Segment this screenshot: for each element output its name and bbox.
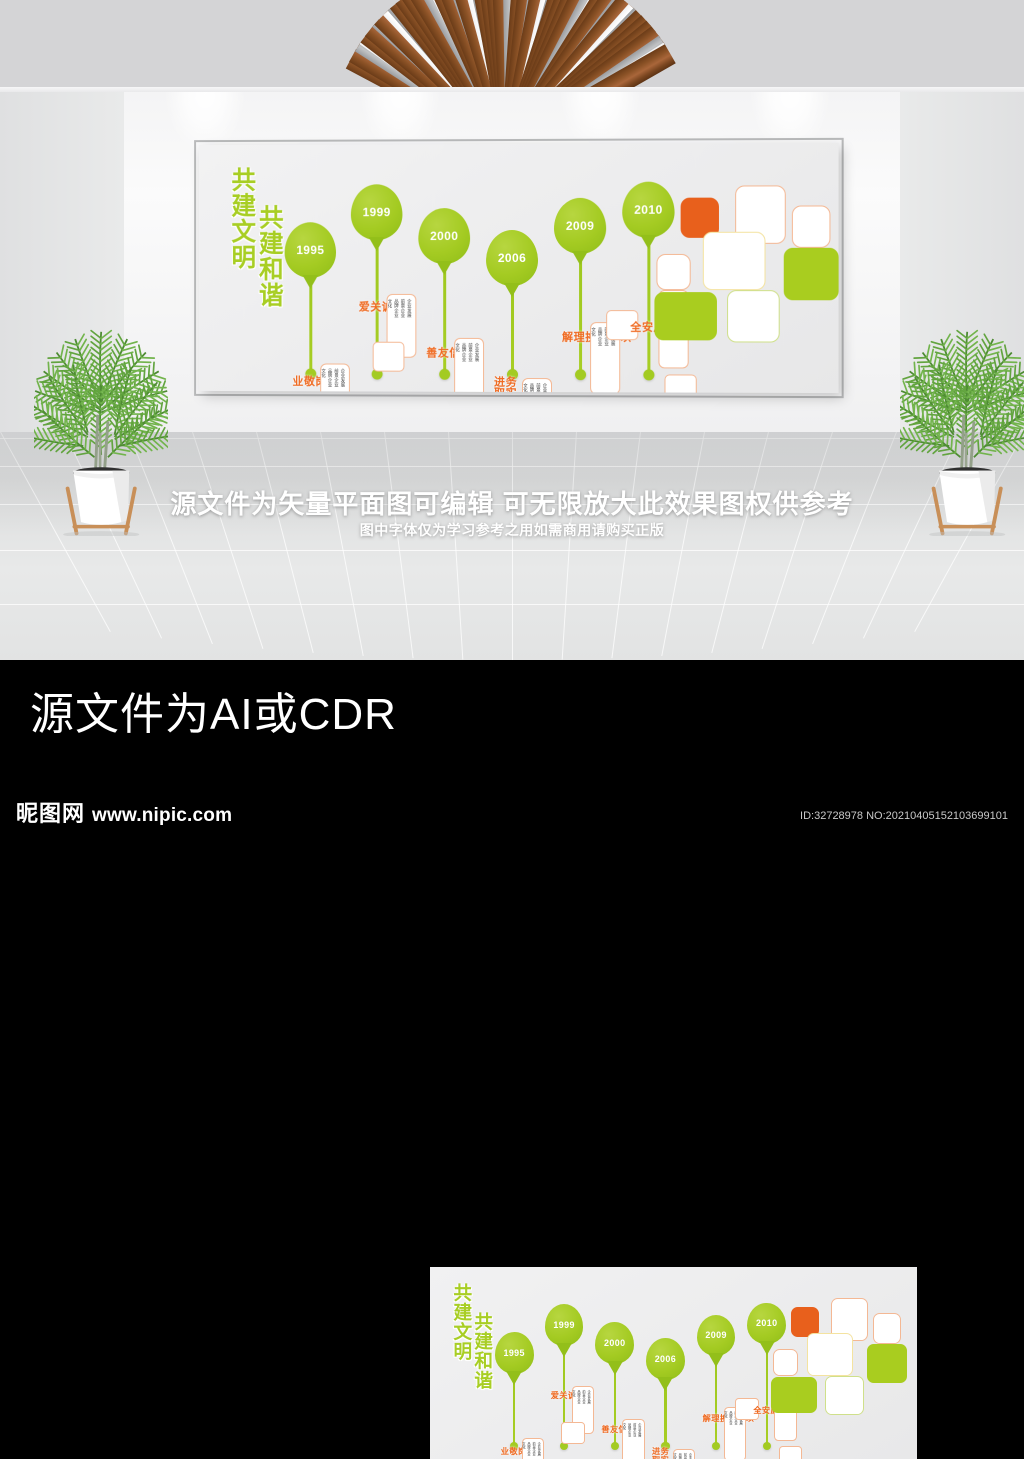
- timeline-year-balloon[interactable]: 2009: [697, 1315, 736, 1357]
- timeline-text-column: 企业发展: [542, 383, 548, 393]
- decor-square-green-right: [784, 248, 839, 300]
- timeline-blank-frame: [561, 1422, 585, 1444]
- timeline-text-column: 企业发展: [475, 343, 480, 393]
- headline-left: 共建文明: [452, 1283, 471, 1361]
- timeline-year-balloon[interactable]: 2009: [554, 198, 606, 254]
- timeline-text-box: 企业发展前景企业品牌企业文化: [622, 1419, 644, 1459]
- brand-name-cn: 昵图网: [16, 796, 85, 828]
- caption-primary: 源文件为矢量平面图可编辑 可无限放大此效果图权供参考: [0, 484, 1024, 521]
- timeline-year-balloon[interactable]: 1999: [545, 1304, 584, 1346]
- timeline-year-balloon[interactable]: 2010: [622, 182, 674, 238]
- timeline-year-label: 2009: [705, 1330, 726, 1340]
- timeline-text-box: 企业发展前景企业品牌企业文化: [522, 1438, 544, 1459]
- timeline-text-column: 品牌企业: [529, 383, 535, 393]
- timeline-value-label: 务实进取: [651, 1447, 668, 1459]
- decor-square-white-small: [792, 205, 831, 247]
- timeline-year-balloon[interactable]: 1995: [495, 1332, 534, 1374]
- timeline-text-column: 企业发展: [637, 1423, 641, 1459]
- timeline-blank-frame: [664, 374, 696, 393]
- timeline-text-column: 文化: [591, 327, 597, 389]
- timeline-year-balloon[interactable]: 2006: [486, 230, 538, 286]
- timeline-text-column: 文化: [321, 368, 326, 393]
- timeline-year-label: 2000: [604, 1338, 625, 1348]
- timeline-year-label: 1995: [296, 243, 324, 257]
- timeline-text-column: 品牌企业: [462, 343, 467, 393]
- source-format-text: 源文件为AI或CDR: [30, 678, 397, 742]
- timeline-stem: [579, 246, 582, 376]
- decor-square-white-low: [727, 290, 780, 342]
- timeline-endpoint-dot: [763, 1442, 771, 1450]
- timeline-year-label: 2009: [566, 219, 594, 233]
- headline-right: 共建和谐: [256, 204, 281, 307]
- timeline-text-column: 品牌企业: [526, 1442, 530, 1459]
- timeline-year-balloon[interactable]: 1995: [285, 222, 336, 278]
- timeline-year-balloon[interactable]: 2000: [418, 208, 470, 264]
- timeline-year-balloon[interactable]: 2000: [595, 1322, 634, 1364]
- decor-square-green-right: [867, 1344, 907, 1383]
- timeline-endpoint-dot: [439, 369, 450, 380]
- timeline-text-column: 企业发展: [587, 1390, 591, 1430]
- timeline-year-label: 1999: [363, 205, 391, 219]
- timeline-text-column: 品牌企业: [728, 1411, 732, 1457]
- headline-right: 共建和谐: [473, 1312, 492, 1390]
- timeline-endpoint-dot: [643, 369, 654, 380]
- headline-left: 共建文明: [228, 167, 253, 270]
- timeline-year-balloon[interactable]: 2006: [646, 1338, 685, 1380]
- decor-square-green-left: [654, 292, 717, 340]
- decor-square-white-low: [825, 1376, 864, 1415]
- timeline-text-box: 企业发展前景企业品牌企业文化: [522, 378, 552, 393]
- timeline-year-label: 1999: [553, 1320, 574, 1330]
- timeline-text-column: 文化: [723, 1411, 727, 1457]
- asset-id-text: ID:32728978 NO:20210405152103699101: [800, 810, 1008, 822]
- timeline-text-column: 企业发展: [537, 1442, 541, 1459]
- decor-square-white-big: [807, 1333, 853, 1376]
- timeline-stem: [647, 230, 650, 377]
- timeline-text-box: 企业发展前景企业品牌企业文化: [673, 1449, 695, 1459]
- timeline-text-column: 前景企业: [532, 1442, 536, 1459]
- timeline-text-column: 企业发展: [407, 299, 412, 353]
- timeline-text-column: 前景企业: [632, 1423, 636, 1459]
- timeline-text-column: 文化: [455, 343, 460, 393]
- timeline-year-label: 2006: [655, 1354, 676, 1364]
- wood-slat-ceiling: [0, 0, 1024, 96]
- brand-website: www.nipic.com: [92, 805, 232, 827]
- timeline-blank-frame: [373, 342, 405, 372]
- timeline-text-column: 品牌企业: [598, 327, 604, 389]
- timeline-value-label: 务实进取: [492, 376, 515, 393]
- timeline-text-column: 前景企业: [536, 383, 542, 393]
- timeline-text-box: 企业发展前景企业品牌企业文化: [454, 338, 484, 393]
- room-render-scene: 共建文明共建和谐1995爱岗敬业企业发展前景企业品牌企业文化1999真诚关爱企业…: [0, 0, 1024, 660]
- timeline-text-column: 企业发展: [340, 369, 345, 394]
- decor-square-white-left: [656, 254, 690, 290]
- timeline-year-label: 2000: [430, 229, 458, 243]
- timeline-text-box: 企业发展前景企业品牌企业文化: [320, 363, 350, 393]
- thumbnail-preview[interactable]: 共建文明共建和谐1995爱岗敬业企业发展前景企业品牌企业文化1999真诚关爱企业…: [430, 1267, 917, 1459]
- timeline-text-column: 文化: [521, 1442, 525, 1459]
- timeline-year-label: 2006: [498, 251, 526, 265]
- timeline-endpoint-dot: [712, 1442, 720, 1450]
- timeline-text-column: 文化: [523, 383, 528, 393]
- decor-square-white-big: [703, 232, 766, 290]
- timeline-blank-frame: [779, 1446, 803, 1459]
- timeline-text-column: 品牌企业: [627, 1423, 631, 1459]
- timeline-year-balloon[interactable]: 2010: [747, 1303, 786, 1345]
- timeline-year-label: 2010: [634, 203, 662, 217]
- timeline-endpoint-dot: [611, 1442, 619, 1450]
- timeline-text-column: 文化: [673, 1453, 677, 1459]
- decor-square-white-small: [873, 1313, 901, 1344]
- timeline-text-column: 企业发展: [688, 1453, 692, 1459]
- timeline-text-column: 品牌企业: [678, 1453, 682, 1459]
- timeline-year-label: 2010: [756, 1318, 777, 1328]
- caption-secondary: 图中字体仅为学习参考之用如需商用请购买正版: [0, 520, 1024, 540]
- timeline-text-column: 前景企业: [683, 1453, 687, 1459]
- timeline-text-column: 前景企业: [468, 343, 473, 393]
- brand-logo: 昵图网 www.nipic.com: [16, 796, 232, 828]
- timeline-endpoint-dot: [575, 369, 586, 380]
- decor-square-white-left: [773, 1349, 798, 1376]
- timeline-text-column: 前景企业: [334, 368, 339, 393]
- timeline-text-column: 文化: [622, 1423, 626, 1459]
- timeline-year-label: 1995: [503, 1348, 524, 1358]
- timeline-text-column: 品牌企业: [328, 368, 333, 393]
- decor-square-green-left: [771, 1377, 817, 1413]
- culture-wall-board: 共建文明共建和谐1995爱岗敬业企业发展前景企业品牌企业文化1999真诚关爱企业…: [199, 143, 839, 393]
- timeline-year-balloon[interactable]: 1999: [351, 184, 403, 240]
